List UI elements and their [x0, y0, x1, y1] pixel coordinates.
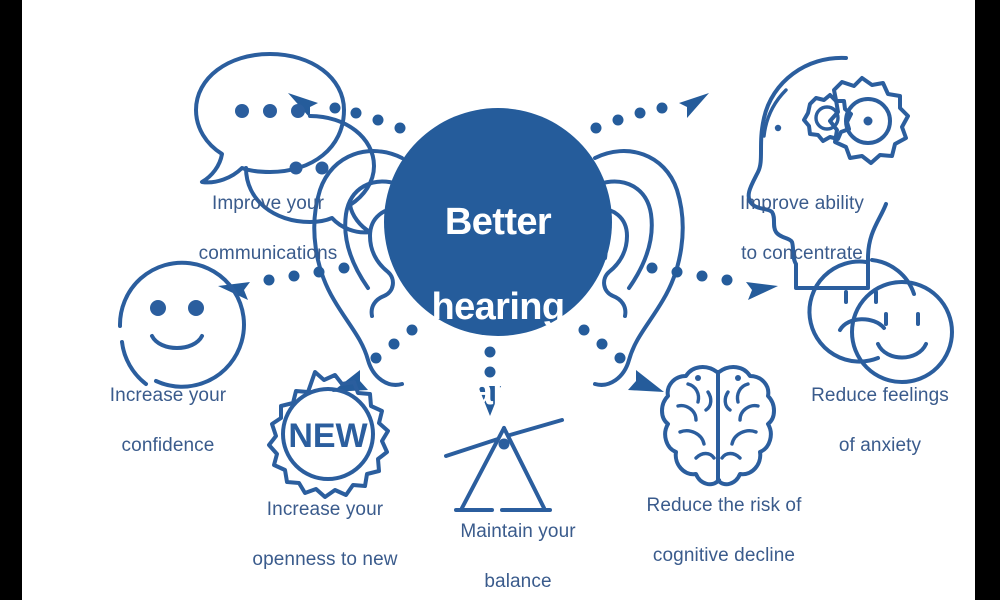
center-title-line-3: can...: [388, 371, 608, 414]
new-badge-text: NEW: [288, 417, 368, 455]
connector-top-right: [591, 93, 710, 134]
label-line-2: confidence: [58, 433, 278, 458]
label-reduce-anxiety: Reduce feelings of anxiety: [770, 358, 975, 483]
label-line-1: Improve ability: [692, 191, 912, 216]
center-title-line-2: hearing: [388, 286, 608, 329]
label-improve-concentration: Improve ability to concentrate: [692, 166, 912, 291]
brain-icon: [662, 367, 774, 484]
connector-top-left: [288, 93, 406, 134]
letterbox-bar-left: [0, 0, 22, 600]
label-reduce-cognitive-decline: Reduce the risk of cognitive decline: [604, 468, 844, 593]
label-line-1: Increase your: [210, 497, 440, 522]
center-title-line-1: Better: [388, 201, 608, 244]
label-line-2: openness to new: [210, 547, 440, 572]
label-maintain-balance: Maintain your balance: [418, 494, 618, 600]
label-line-1: Increase your: [58, 383, 278, 408]
label-increase-confidence: Increase your confidence: [58, 358, 278, 483]
center-title: Better hearing can...: [388, 158, 608, 456]
label-line-1: Maintain your: [418, 519, 618, 544]
label-line-2: of anxiety: [770, 433, 975, 458]
infographic-canvas: .ln { fill:none; stroke:#2B5E9E; stroke-…: [22, 0, 975, 600]
label-improve-communications: Improve your communications: [158, 166, 378, 291]
label-line-2: balance: [418, 569, 618, 594]
infographic-stage: .ln { fill:none; stroke:#2B5E9E; stroke-…: [0, 0, 1000, 600]
letterbox-bar-right: [975, 0, 1000, 600]
label-line-1: Reduce feelings: [770, 383, 975, 408]
label-line-2: cognitive decline: [604, 543, 844, 568]
label-line-1: Improve your: [158, 191, 378, 216]
label-increase-openness: Increase your openness to new experience…: [210, 472, 440, 600]
label-line-2: to concentrate: [692, 241, 912, 266]
label-line-1: Reduce the risk of: [604, 493, 844, 518]
label-line-2: communications: [158, 241, 378, 266]
